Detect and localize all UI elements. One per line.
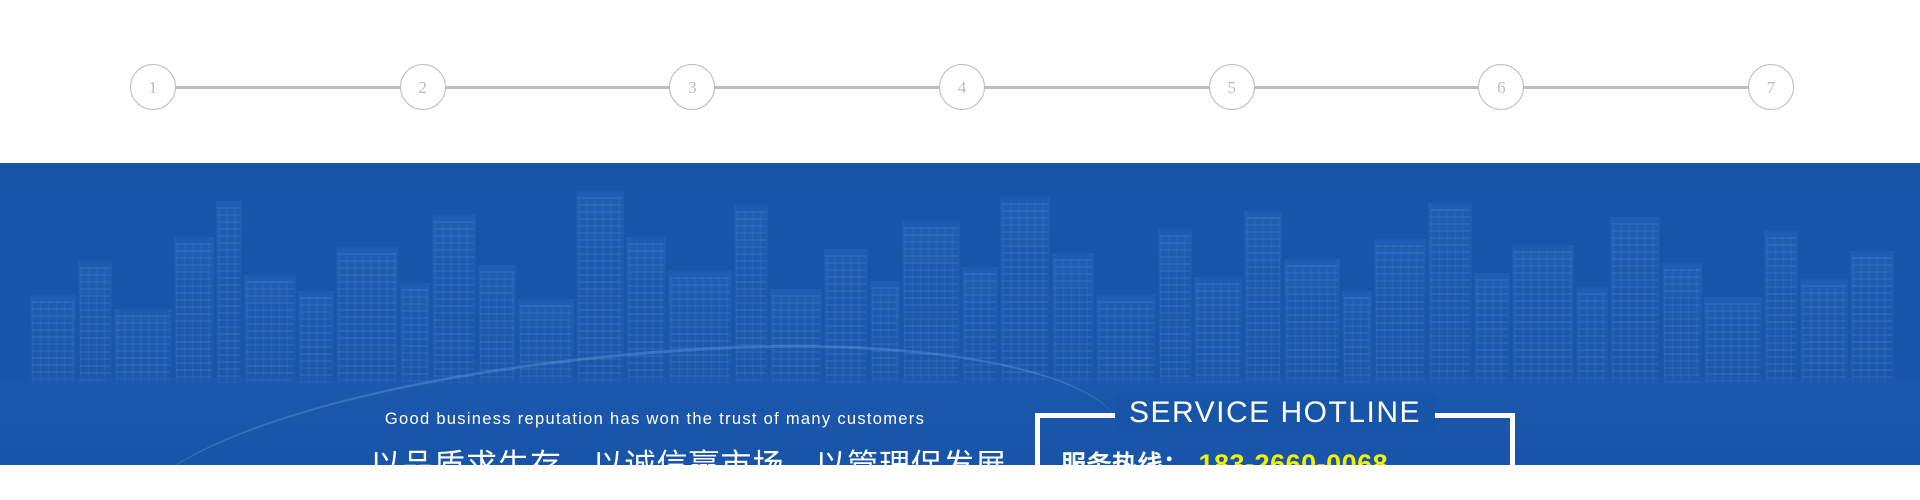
step-connector-4-5: [984, 86, 1210, 89]
slogan-english: Good business reputation has won the tru…: [370, 410, 940, 428]
slogan-chinese-headline: 以品质求生存 · 以诚信赢市场 · 以管理促发展: [370, 448, 940, 465]
step-number-7: 7: [1767, 79, 1776, 96]
slogan-block: Good business reputation has won the tru…: [370, 410, 940, 465]
step-connector-3-4: [714, 86, 940, 89]
step-node-6[interactable]: 6: [1478, 64, 1524, 110]
step-number-3: 3: [688, 79, 697, 96]
step-node-2[interactable]: 2: [400, 64, 446, 110]
hotline-label: 服务热线：: [1061, 445, 1189, 465]
step-connector-1-2: [175, 86, 401, 89]
step-indicator: 1 2 3 4 5 6 7: [130, 63, 1794, 111]
step-number-2: 2: [418, 79, 427, 96]
hotline-number-primary[interactable]: 183-2660-0068: [1199, 449, 1389, 465]
stepper-strip: 1 2 3 4 5 6 7: [0, 0, 1920, 163]
service-hotline-box: SERVICE HOTLINE 服务热线： 183-2660-0068 0551…: [1035, 413, 1515, 465]
step-number-1: 1: [149, 79, 158, 96]
promo-banner: Good business reputation has won the tru…: [0, 163, 1920, 465]
step-node-4[interactable]: 4: [939, 64, 985, 110]
step-number-5: 5: [1227, 79, 1236, 96]
step-node-5[interactable]: 5: [1209, 64, 1255, 110]
step-node-3[interactable]: 3: [669, 64, 715, 110]
step-connector-2-3: [445, 86, 671, 89]
hotline-row-primary: 服务热线： 183-2660-0068: [1061, 445, 1515, 465]
step-number-4: 4: [958, 79, 967, 96]
hotline-title: SERVICE HOTLINE: [1115, 394, 1435, 432]
cityscape-backdrop-image: [0, 163, 1920, 387]
hotline-body: 服务热线： 183-2660-0068 0551-63749777: [1035, 445, 1515, 465]
step-connector-6-7: [1523, 86, 1749, 89]
step-connector-5-6: [1254, 86, 1480, 89]
step-node-7[interactable]: 7: [1748, 64, 1794, 110]
step-number-6: 6: [1497, 79, 1506, 96]
step-node-1[interactable]: 1: [130, 64, 176, 110]
